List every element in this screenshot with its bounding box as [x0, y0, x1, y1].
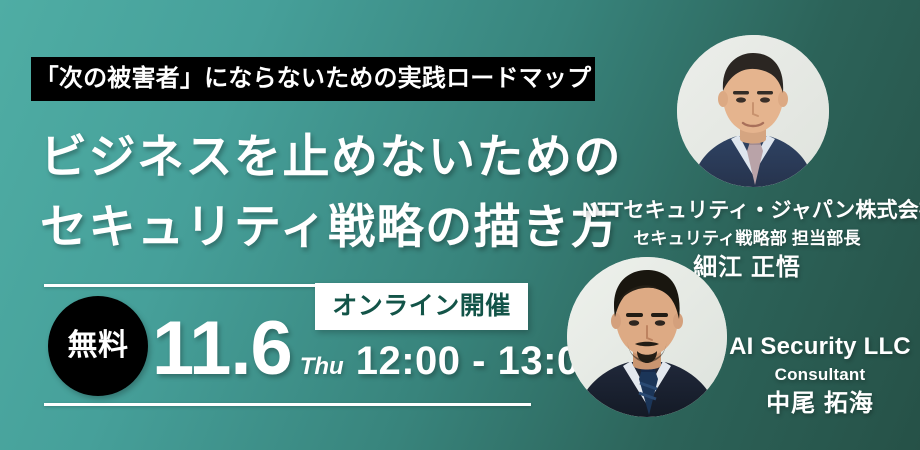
speaker-1-role: セキュリティ戦略部 担当部長: [582, 226, 912, 252]
speaker-portrait-1: [677, 35, 829, 187]
speaker-2-company: AI Security LLC: [722, 332, 918, 362]
price-badge-label: 無料: [68, 331, 129, 361]
speaker-photo-2-image: [567, 257, 727, 417]
page-title: ビジネスを止めないための セキュリティ戦略の描き方: [40, 122, 620, 262]
speaker-2-role: Consultant: [722, 362, 918, 388]
speaker-portrait-2: [567, 257, 727, 417]
divider-bottom: [44, 403, 531, 406]
eyebrow-text: 「次の被害者」にならないための実践ロードマップ: [35, 67, 592, 91]
speaker-photo-1-image: [677, 35, 829, 187]
title-line-1: ビジネスを止めないための: [40, 122, 620, 192]
webinar-banner: 「次の被害者」にならないための実践ロードマップ ビジネスを止めないための セキュ…: [0, 0, 920, 450]
speaker-1-company: NTTセキュリティ・ジャパン株式会社: [582, 196, 912, 226]
event-time: 12:00 - 13:00: [356, 341, 603, 381]
title-line-2: セキュリティ戦略の描き方: [40, 192, 620, 262]
speaker-info-2: AI Security LLC Consultant 中尾 拓海: [722, 332, 918, 420]
eyebrow-band: 「次の被害者」にならないための実践ロードマップ: [31, 57, 595, 101]
event-weekday: Thu: [300, 355, 344, 379]
format-badge-label: オンライン開催: [332, 294, 511, 319]
event-date: 11.6: [152, 311, 292, 387]
format-badge: オンライン開催: [315, 283, 528, 330]
price-badge: 無料: [48, 296, 148, 396]
speaker-2-name: 中尾 拓海: [722, 388, 918, 420]
